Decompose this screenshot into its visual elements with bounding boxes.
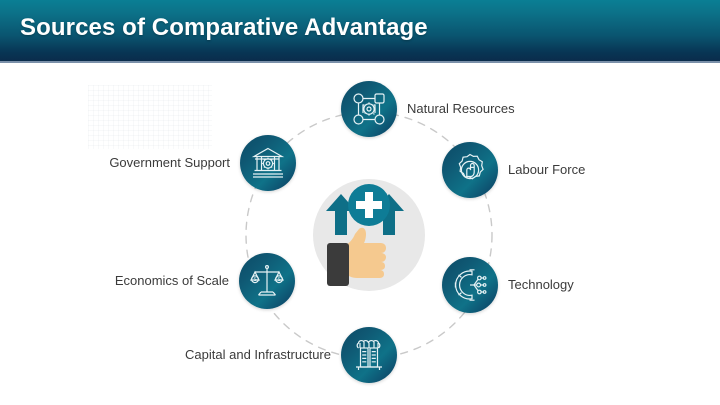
node-circle[interactable] xyxy=(442,142,498,198)
node-label: Labour Force xyxy=(508,161,585,179)
node-label: Economics of Scale xyxy=(115,272,229,290)
node-circle[interactable] xyxy=(341,327,397,383)
bank-gear-icon xyxy=(251,146,285,180)
diagram-canvas: Natural Resources Labour Force xyxy=(0,63,720,405)
node-label: Natural Resources xyxy=(407,100,515,118)
node-label: Technology xyxy=(508,276,574,294)
fist-in-gear-icon xyxy=(453,153,487,187)
node-circle[interactable] xyxy=(442,257,498,313)
node-circle[interactable] xyxy=(341,81,397,137)
buildings-icon xyxy=(352,338,386,372)
balance-scales-icon: S S xyxy=(250,264,284,298)
node-label: Government Support xyxy=(109,154,230,172)
page-title: Sources of Comparative Advantage xyxy=(20,14,428,42)
resource-network-icon xyxy=(352,92,386,126)
gear-circuit-icon xyxy=(453,268,487,302)
node-circle[interactable] xyxy=(240,135,296,191)
node-label: Capital and Infrastructure xyxy=(185,346,331,364)
node-circle[interactable]: S S xyxy=(239,253,295,309)
